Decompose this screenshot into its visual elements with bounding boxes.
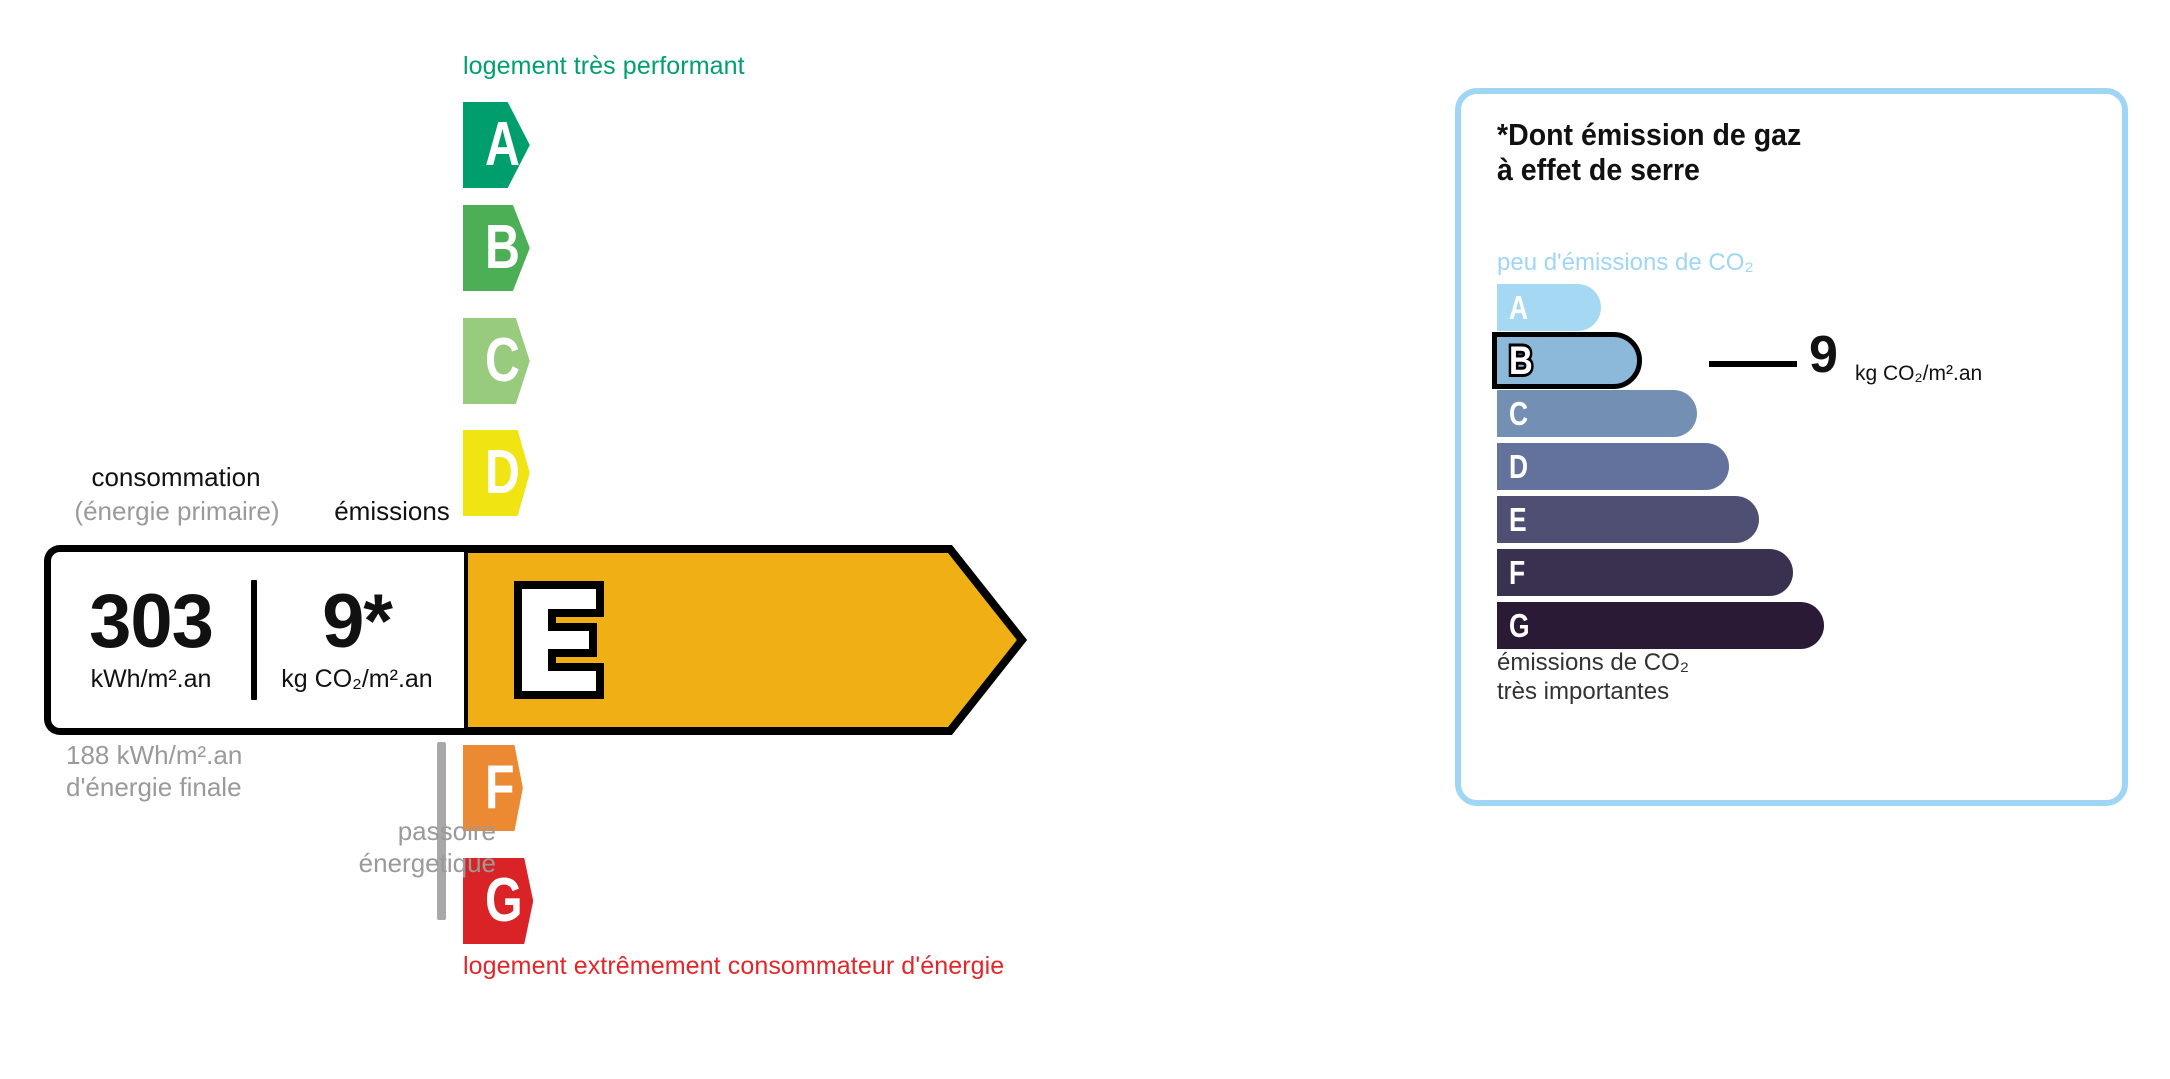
label-emissions: émissions xyxy=(307,496,477,527)
energy-bar-b[interactable]: B xyxy=(463,205,530,291)
co2-bar-d-shape: D xyxy=(1497,443,1729,490)
energy-bar-d-letter: D xyxy=(485,442,520,504)
co2-bar-f-letter: F xyxy=(1509,556,1525,589)
co2-callout-value: 9 xyxy=(1809,329,1838,381)
co2-bar-b-letter: B xyxy=(1509,341,1533,381)
passoire-label: passoire énergetique xyxy=(276,816,496,879)
label-consommation: consommation xyxy=(66,462,286,493)
energy-top-caption: logement très performant xyxy=(463,52,745,81)
co2-callout-unit: kg CO₂/m².an xyxy=(1855,362,1982,386)
final-energy-label: 188 kWh/m².an d'énergie finale xyxy=(66,740,466,803)
co2-bar-b-shape: B xyxy=(1492,332,1642,389)
energy-bottom-caption: logement extrêmement consommateur d'éner… xyxy=(463,952,1004,981)
emission-cell: 9* kg CO₂/m².an xyxy=(257,586,457,693)
energy-bar-f-letter: F xyxy=(485,757,515,819)
co2-bar-a-letter: A xyxy=(1509,291,1528,324)
energy-performance-chart: logement très performant A B C xyxy=(0,0,1400,1079)
primary-energy-unit: kWh/m².an xyxy=(91,665,212,694)
energy-bar-b-letter: B xyxy=(485,217,520,279)
co2-bar-a-shape: A xyxy=(1497,284,1601,331)
emission-unit: kg CO₂/m².an xyxy=(281,665,432,694)
co2-bar-g-shape: G xyxy=(1497,602,1824,649)
co2-bar-e-shape: E xyxy=(1497,496,1759,543)
emission-value: 9* xyxy=(322,586,392,658)
energy-bar-a[interactable]: A xyxy=(463,102,530,188)
energy-bar-g-letter: G xyxy=(485,870,523,932)
co2-bar-f-shape: F xyxy=(1497,549,1793,596)
co2-bar-d-letter: D xyxy=(1509,450,1528,483)
below-box-labels: 188 kWh/m².an d'énergie finale passoire … xyxy=(66,740,466,803)
co2-emissions-panel: *Dont émission de gaz à effet de serre p… xyxy=(1455,88,2128,806)
energy-bar-c[interactable]: C xyxy=(463,318,530,404)
co2-bottom-caption: émissions de CO₂ très importantes xyxy=(1497,649,1689,707)
primary-energy-value: 303 xyxy=(89,586,213,658)
primary-energy-cell: 303 kWh/m².an xyxy=(51,586,251,693)
label-consommation-sub: (énergie primaire) xyxy=(52,496,302,527)
energy-bar-c-letter: C xyxy=(485,330,520,392)
co2-callout-line xyxy=(1709,361,1797,367)
value-box-labels: consommation (énergie primaire) émission… xyxy=(44,470,514,540)
co2-bar-c-shape: C xyxy=(1497,390,1697,437)
co2-top-caption: peu d'émissions de CO₂ xyxy=(1497,249,1754,277)
co2-panel-title: *Dont émission de gaz à effet de serre xyxy=(1497,118,1801,187)
value-box: 303 kWh/m².an 9* kg CO₂/m².an xyxy=(44,545,464,735)
co2-bar-g-letter: G xyxy=(1509,609,1530,642)
energy-bar-e-shape xyxy=(460,545,1030,735)
co2-bar-e-letter: E xyxy=(1509,503,1527,536)
co2-bar-c-letter: C xyxy=(1509,397,1528,430)
energy-bar-a-letter: A xyxy=(485,114,520,176)
